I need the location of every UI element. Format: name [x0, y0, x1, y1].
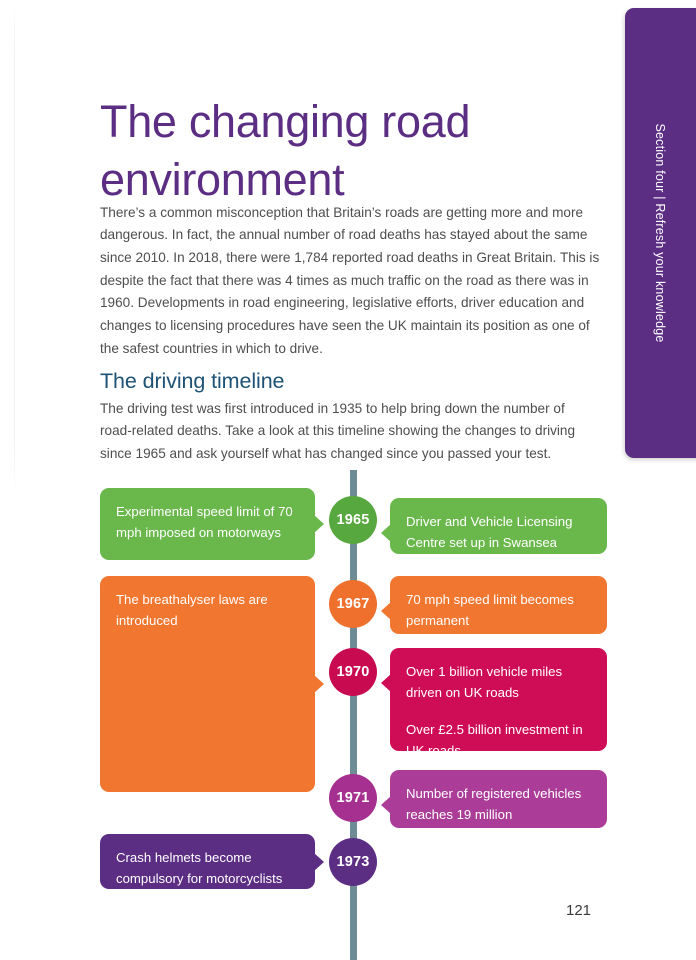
timeline-node-1971: 1971: [329, 774, 377, 822]
timeline-entry-1967-left-text: The breathalyser laws are introduced: [116, 592, 268, 628]
timeline-entry-1971-right-text: Number of registered vehicles reaches 19…: [406, 786, 581, 822]
timeline-entry-1970-text-line-1: Over 1 billion vehicle miles driven on U…: [406, 661, 591, 703]
timeline-entry-1970-text-line-2: Over £2.5 billion investment in UK roads: [406, 719, 591, 761]
timeline-node-1965: 1965: [329, 496, 377, 544]
page-root: Section four | Refresh your knowledge Th…: [0, 0, 696, 960]
timeline-node-1973: 1973: [329, 838, 377, 886]
timeline-node-1971-year: 1971: [336, 790, 369, 806]
timeline-entry-1965-left-text: Experimental speed limit of 70 mph impos…: [116, 504, 293, 540]
timeline-node-1967: 1967: [329, 580, 377, 628]
timeline-node-1970: 1970: [329, 648, 377, 696]
timeline-entry-1971-right-box: Number of registered vehicles reaches 19…: [390, 770, 607, 828]
timeline-entry-1967-left-box: The breathalyser laws are introduced: [100, 576, 315, 792]
timeline-entry-1973-left-box: Crash helmets become compulsory for moto…: [100, 834, 315, 889]
timeline-entry-1967-right-text: 70 mph speed limit becomes permanent: [406, 592, 574, 628]
timeline-entry-1970-right-box: Over 1 billion vehicle miles driven on U…: [390, 648, 607, 751]
timeline-entry-1965-left-box: Experimental speed limit of 70 mph impos…: [100, 488, 315, 560]
timeline-entry-1967-right-box: 70 mph speed limit becomes permanent: [390, 576, 607, 634]
timeline-node-1965-year: 1965: [336, 512, 369, 528]
timeline-entry-1973-left-text: Crash helmets become compulsory for moto…: [116, 850, 282, 886]
page-number: 121: [566, 902, 591, 919]
timeline-node-1973-year: 1973: [336, 854, 369, 870]
timeline-entry-1965-right-box: Driver and Vehicle Licensing Centre set …: [390, 498, 607, 554]
driving-timeline: Experimental speed limit of 70 mph impos…: [0, 0, 696, 960]
timeline-node-1967-year: 1967: [336, 596, 369, 612]
timeline-node-1970-year: 1970: [336, 664, 369, 680]
timeline-entry-1965-right-text: Driver and Vehicle Licensing Centre set …: [406, 514, 572, 550]
